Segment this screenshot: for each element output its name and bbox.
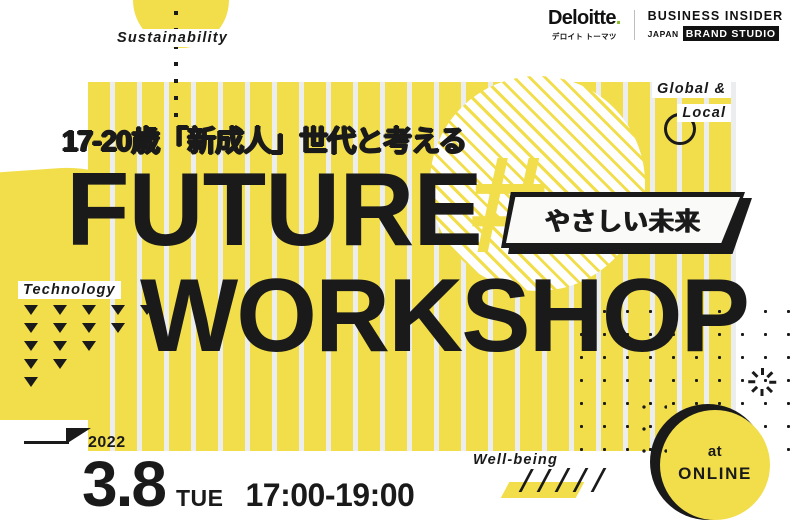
business-insider-wordmark: BUSINESS INSIDER [648,9,784,24]
keyword-wellbeing: Well-being [468,452,563,468]
event-date-row: 3.8 TUE 17:00-19:00 [82,452,414,516]
logo-divider [634,10,635,40]
online-badge: at ONLINE [660,410,770,520]
keyword-global-local: Global & Local [652,78,731,126]
sparkle-icon [748,368,776,396]
business-insider-japan-label: JAPAN [648,29,679,39]
poster-canvas: # Deloitte. デロイト トーマツ [0,0,800,530]
keyword-global-label: Global & [652,80,731,98]
logo-lockup: Deloitte. デロイト トーマツ BUSINESS INSIDER JAP… [548,8,783,42]
keyword-technology: Technology [18,282,121,298]
deloitte-subtitle: デロイト トーマツ [552,31,617,42]
event-weekday: TUE [176,485,224,512]
online-at-label: at [708,444,722,461]
online-dot-accent [633,396,667,466]
dotted-vertical-line-decoration [174,0,178,122]
slash-marks-decoration [525,468,635,492]
online-place-label: ONLINE [678,461,752,487]
keyword-local-label: Local [677,104,731,122]
keyword-wellbeing-label: Well-being [468,451,563,469]
ribbon-tagline: やさしい未来 [501,192,745,248]
event-date: 3.8 [82,452,165,516]
keyword-sustainability: Sustainability [112,30,233,46]
headline-word-workshop: WORKSHOP [140,272,748,360]
event-time: 17:00-19:00 [245,477,414,514]
keyword-sustainability-label: Sustainability [112,29,233,47]
deloitte-wordmark: Deloitte. [548,8,621,28]
business-insider-logo: BUSINESS INSIDER JAPAN BRAND STUDIO [648,9,784,41]
triangle-pattern-decoration [24,305,154,395]
headline-word-future: FUTURE [66,166,482,254]
deloitte-logo: Deloitte. デロイト トーマツ [548,8,621,42]
brand-studio-badge: BRAND STUDIO [683,26,779,41]
ribbon-tagline-text: やさしい未来 [545,202,701,238]
deloitte-green-dot: . [616,7,621,29]
arrow-shaft-icon [24,441,69,444]
deloitte-name: Deloitte [548,7,616,29]
keyword-technology-label: Technology [18,281,121,299]
